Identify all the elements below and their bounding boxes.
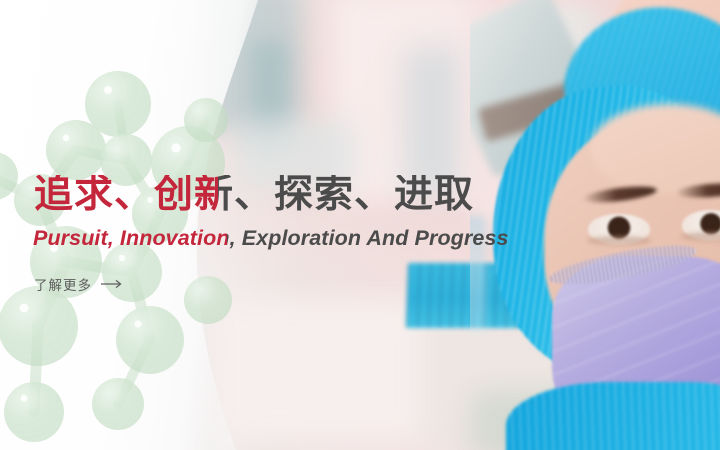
learn-more-button[interactable]: 了解更多: [34, 274, 125, 294]
arrow-right-icon: [101, 279, 125, 289]
page-title: 追求、创新、探索、进取 追求、创新、探索、进取 追求、创新、探索、进取: [34, 175, 474, 214]
hero-banner: 追求、创新、探索、进取 追求、创新、探索、进取 追求、创新、探索、进取 Purs…: [0, 0, 720, 450]
learn-more-label: 了解更多: [34, 274, 92, 294]
page-subtitle: Pursuit, Innovation, Exploration And Pro…: [33, 228, 509, 250]
hero-copy: 追求、创新、探索、进取 追求、创新、探索、进取 追求、创新、探索、进取 Purs…: [0, 0, 720, 450]
